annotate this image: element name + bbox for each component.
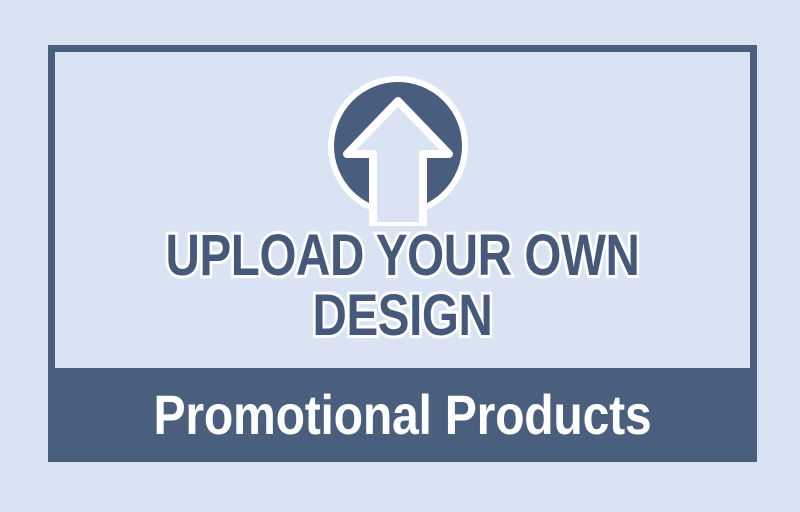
banner-title: Promotional Products [154,387,652,443]
headline-line-2: DESIGN [118,288,688,345]
headline-block: UPLOAD YOUR OWN DESIGN [55,228,750,345]
upload-arrow-icon[interactable] [328,76,478,226]
category-banner[interactable]: Promotional Products [48,368,757,462]
card-frame: UPLOAD YOUR OWN DESIGN Promotional Produ… [48,45,757,462]
promotional-products-card[interactable]: UPLOAD YOUR OWN DESIGN Promotional Produ… [0,0,800,512]
headline-line-1: UPLOAD YOUR OWN [118,228,688,285]
artwork-panel: UPLOAD YOUR OWN DESIGN [55,52,750,368]
